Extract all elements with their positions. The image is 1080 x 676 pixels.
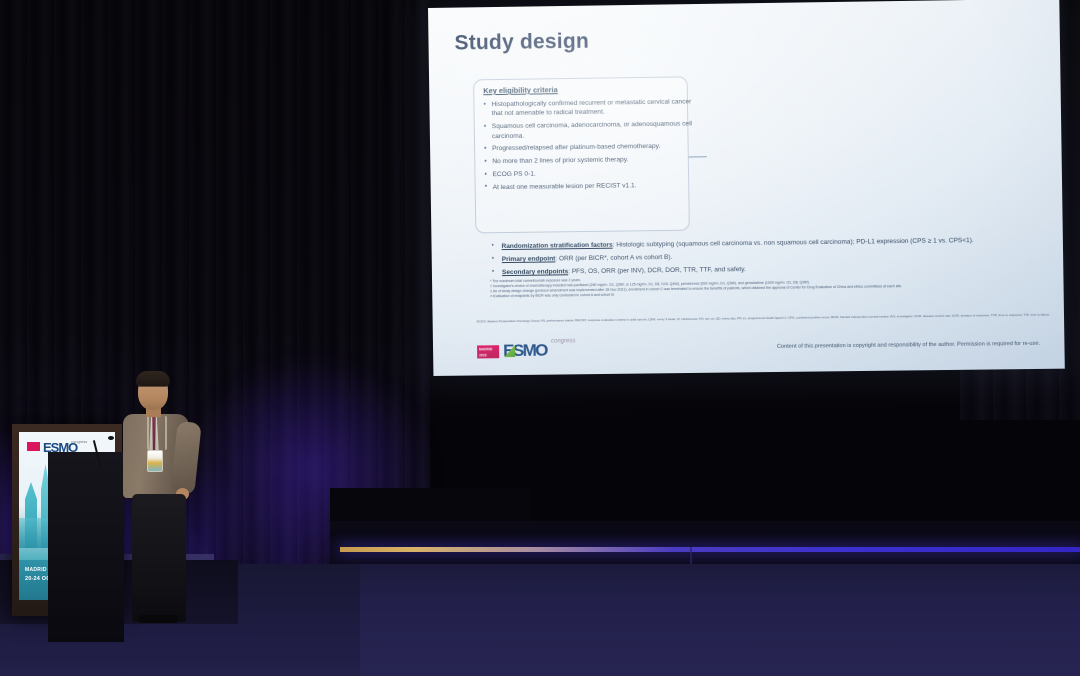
stage-edge-lightbar-upper	[340, 547, 1080, 552]
bullet-randomization-factors: Randomization stratification factors: Hi…	[490, 236, 1053, 251]
presentation-slide: Study design Key eligibility criteria Hi…	[428, 0, 1065, 376]
speaker-badge	[147, 450, 163, 472]
abbreviations-block: ECOG, Eastern Cooperative Oncology Group…	[477, 312, 1065, 324]
bullet-primary-endpoint: Primary endpoint: ORR (per BICR*, cohort…	[490, 249, 1053, 264]
list-item: No more than 2 lines of prior systemic t…	[492, 155, 693, 167]
banner-logo-congress: congress	[71, 439, 87, 444]
bullet-text: : Histologic subtyping (squamous cell ca…	[613, 237, 974, 249]
bullet-label: Randomization stratification factors	[502, 242, 613, 250]
list-item: Histopathologically confirmed recurrent …	[491, 97, 692, 119]
speaker-trousers	[132, 494, 186, 622]
esmo-logo-text: ESMO	[503, 341, 547, 362]
microphone-head-icon	[108, 436, 114, 440]
list-item: At least one measurable lesion per RECIS…	[493, 180, 694, 192]
projection-screen: Study design Key eligibility criteria Hi…	[428, 0, 1065, 376]
eligibility-heading: Key eligibility criteria	[483, 85, 558, 95]
speaker-shoes	[138, 615, 178, 623]
speaker-glasses-icon	[138, 386, 167, 393]
list-item: Squamous cell carcinoma, adenocarcinoma,…	[492, 120, 693, 142]
slide-copyright: Content of this presentation is copyrigh…	[777, 341, 1040, 350]
auditorium-scene: ESMO congress MADRID SPAIN 20-24 OCTOBER…	[0, 0, 1080, 676]
eligibility-criteria-box: Key eligibility criteria Histopathologic…	[473, 76, 690, 233]
slide-footer-logo: MADRID 2023 ESMO congress	[477, 340, 592, 361]
slide-title: Study design	[454, 30, 589, 56]
abbreviations-text: ECOG, Eastern Cooperative Oncology Group…	[477, 312, 1065, 324]
bullet-text: : ORR (per BICR*, cohort A vs cohort B).	[555, 254, 672, 262]
bullet-text: : PFS, OS, ORR (per INV), DCR, DOR, TTR,…	[568, 266, 746, 275]
bullet-label: Primary endpoint	[502, 256, 556, 264]
speaker-hair	[136, 371, 170, 386]
esmo-congress-text: congress	[551, 338, 575, 344]
speaker-lanyard	[147, 416, 167, 450]
bullet-label: Secondary endpoints	[502, 269, 568, 277]
list-item: Progressed/relapsed after platinum-based…	[492, 142, 693, 154]
eligibility-list: Histopathologically confirmed recurrent …	[480, 97, 693, 196]
madrid-badge-line2: 2023	[477, 351, 499, 357]
madrid-badge-icon: MADRID 2023	[477, 345, 499, 358]
speaker-presenter	[118, 372, 210, 622]
list-item: ECOG PS 0-1.	[492, 167, 693, 179]
lectern-body	[48, 452, 124, 642]
banner-madrid-badge-icon	[27, 442, 40, 451]
connector-elig-to-rand	[689, 156, 707, 157]
